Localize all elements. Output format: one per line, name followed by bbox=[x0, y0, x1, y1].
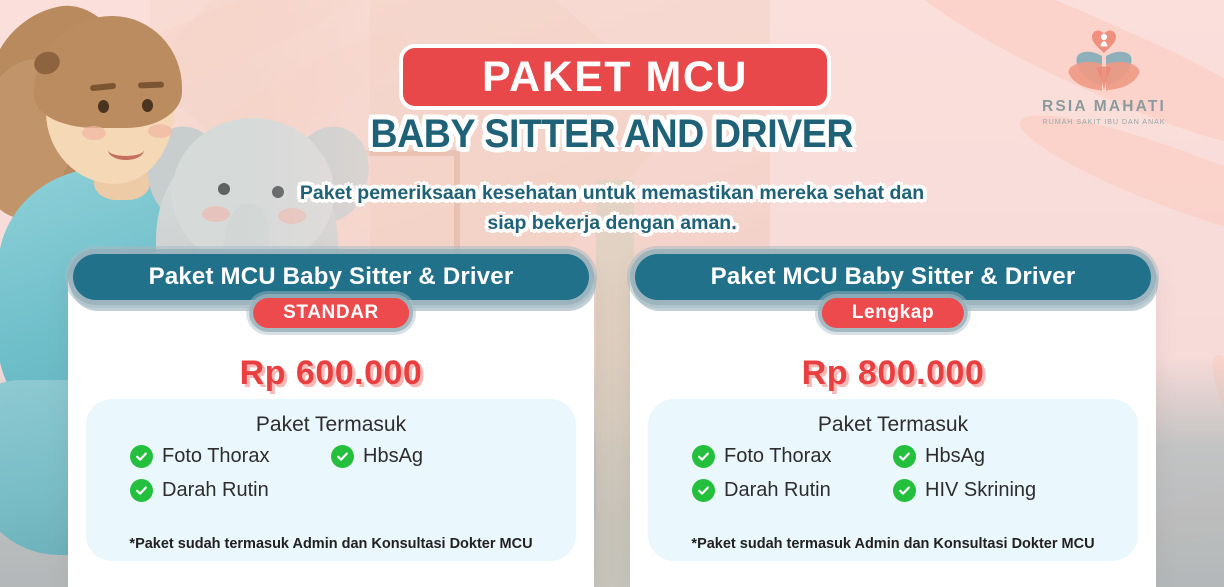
logo-name: RSIA MAHATI bbox=[1024, 98, 1184, 116]
included-title: Paket Termasuk bbox=[648, 411, 1138, 439]
feature-list: Foto Thorax HbsAg Darah Rutin bbox=[648, 439, 1138, 503]
card-header-label: Paket MCU Baby Sitter & Driver bbox=[711, 263, 1076, 291]
list-item: Foto Thorax bbox=[130, 443, 331, 469]
feature-label: Darah Rutin bbox=[724, 477, 831, 503]
feature-label: HbsAg bbox=[363, 443, 423, 469]
hospital-logo: RSIA MAHATI RUMAH SAKIT IBU DAN ANAK bbox=[1024, 24, 1184, 126]
check-circle-icon bbox=[331, 445, 354, 468]
feature-label: Darah Rutin bbox=[162, 477, 269, 503]
card-header: Paket MCU Baby Sitter & Driver bbox=[73, 254, 589, 300]
feature-label: HIV Skrining bbox=[925, 477, 1036, 503]
price-value: Rp 800.000 bbox=[802, 354, 985, 392]
subtitle-line-1: Paket pemeriksaan kesehatan untuk memast… bbox=[262, 178, 962, 208]
list-item: Foto Thorax bbox=[692, 443, 893, 469]
included-panel: Paket Termasuk Foto Thorax HbsAg bbox=[86, 399, 576, 561]
check-circle-icon bbox=[893, 445, 916, 468]
package-tier-badge: STANDAR bbox=[253, 298, 409, 328]
package-note: *Paket sudah termasuk Admin dan Konsulta… bbox=[86, 536, 576, 552]
feature-label: Foto Thorax bbox=[162, 443, 269, 469]
included-panel: Paket Termasuk Foto Thorax HbsAg bbox=[648, 399, 1138, 561]
package-note: *Paket sudah termasuk Admin dan Konsulta… bbox=[648, 536, 1138, 552]
list-item: HbsAg bbox=[893, 443, 1094, 469]
package-card-lengkap[interactable]: Paket MCU Baby Sitter & Driver Lengkap R… bbox=[630, 268, 1156, 587]
package-card-standar[interactable]: Paket MCU Baby Sitter & Driver STANDAR R… bbox=[68, 268, 594, 587]
price: Rp 800.000 bbox=[630, 354, 1156, 393]
subtitle: Paket pemeriksaan kesehatan untuk memast… bbox=[262, 178, 962, 238]
title-line-1: PAKET MCU bbox=[482, 56, 748, 99]
list-item: Darah Rutin bbox=[692, 477, 893, 503]
package-tier-badge: Lengkap bbox=[822, 298, 964, 328]
logo-tagline: RUMAH SAKIT IBU DAN ANAK bbox=[1024, 117, 1184, 126]
badge-label: Lengkap bbox=[852, 302, 934, 324]
title-banner-primary: PAKET MCU bbox=[399, 44, 831, 110]
included-title: Paket Termasuk bbox=[86, 411, 576, 439]
badge-label: STANDAR bbox=[283, 302, 379, 324]
list-item: HbsAg bbox=[331, 443, 532, 469]
price-value: Rp 600.000 bbox=[240, 354, 423, 392]
lotus-heart-logo-icon bbox=[1024, 24, 1184, 96]
promo-banner: PAKET MCU BABY SITTER AND DRIVER Paket p… bbox=[0, 0, 1224, 587]
check-circle-icon bbox=[893, 479, 916, 502]
check-circle-icon bbox=[130, 479, 153, 502]
list-item: HIV Skrining bbox=[893, 477, 1094, 503]
card-header-label: Paket MCU Baby Sitter & Driver bbox=[149, 263, 514, 291]
list-item: Darah Rutin bbox=[130, 477, 331, 503]
check-circle-icon bbox=[692, 445, 715, 468]
check-circle-icon bbox=[130, 445, 153, 468]
check-circle-icon bbox=[692, 479, 715, 502]
feature-list: Foto Thorax HbsAg Darah Rutin bbox=[86, 439, 576, 503]
feature-label: Foto Thorax bbox=[724, 443, 831, 469]
price: Rp 600.000 bbox=[68, 354, 594, 393]
card-header: Paket MCU Baby Sitter & Driver bbox=[635, 254, 1151, 300]
subtitle-line-2: siap bekerja dengan aman. bbox=[262, 208, 962, 238]
feature-label: HbsAg bbox=[925, 443, 985, 469]
